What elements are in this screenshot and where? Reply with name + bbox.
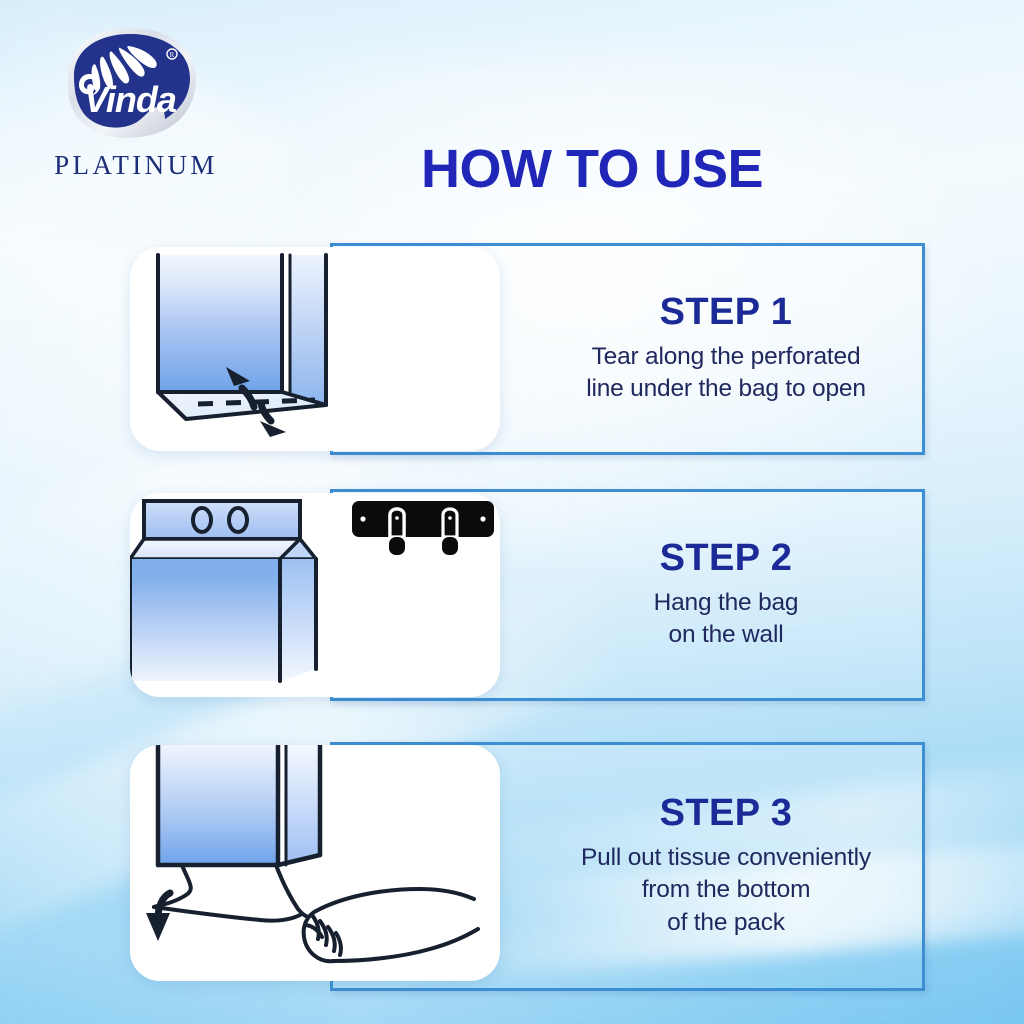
hand-pulling-tissue-icon [130,745,500,981]
step-3-description-line-2: from the bottom [581,874,871,906]
bag-tear-perforated-bottom-icon [130,247,500,451]
step-2-description-line-1: Hang the bag [654,587,799,619]
step-2-description-line-2: on the wall [654,619,799,651]
step-3-description-line-1: Pull out tissue conveniently [581,842,871,874]
step-row-3: STEP 3 Pull out tissue conveniently from… [0,742,1024,991]
step-1-text-block: STEP 1 Tear along the perforated line un… [538,246,914,452]
step-3-title: STEP 3 [660,794,793,832]
step-3-description: Pull out tissue conveniently from the bo… [581,842,871,939]
step-row-1: STEP 1 Tear along the perforated line un… [0,243,1024,455]
vinda-logo: R Vinda [54,24,206,144]
step-3-illustration-card [130,745,500,981]
step-2-text-block: STEP 2 Hang the bag on the wall [538,492,914,698]
step-3-text-block: STEP 3 Pull out tissue conveniently from… [538,745,914,988]
step-2-illustration-card [130,493,500,697]
step-1-illustration-card [130,247,500,451]
step-1-title: STEP 1 [660,293,793,331]
svg-text:R: R [170,51,175,59]
step-1-description: Tear along the perforated line under the… [586,341,866,406]
page-title: HOW TO USE [0,138,1024,200]
step-3-description-line-3: of the pack [581,907,871,939]
step-2-title: STEP 2 [660,539,793,577]
how-to-use-infographic: R Vinda PLATINUM HOW TO USE STEP 1 Tear … [0,0,1024,1024]
svg-text:Vinda: Vinda [84,79,176,120]
wall-bracket [352,501,494,555]
step-1-description-line-1: Tear along the perforated [586,341,866,373]
step-1-description-line-2: line under the bag to open [586,373,866,405]
bag-hanging-wall-bracket-icon [130,493,500,697]
step-2-description: Hang the bag on the wall [654,587,799,652]
step-row-2: STEP 2 Hang the bag on the wall [0,489,1024,701]
